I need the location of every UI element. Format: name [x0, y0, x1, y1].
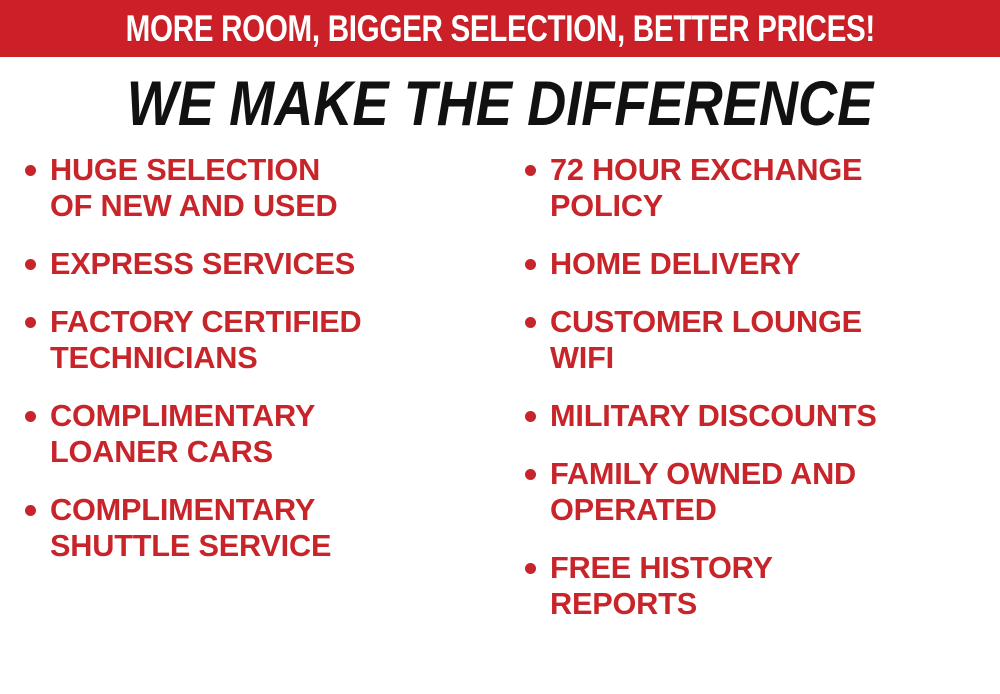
bullet-dot-icon [525, 411, 536, 422]
list-item: COMPLIMENTARY LOANER CARS [18, 398, 500, 470]
top-banner-text: MORE ROOM, BIGGER SELECTION, BETTER PRIC… [125, 10, 874, 47]
promo-poster: MORE ROOM, BIGGER SELECTION, BETTER PRIC… [0, 0, 1000, 694]
bullet-dot-icon [525, 317, 536, 328]
list-item-label: FACTORY CERTIFIED TECHNICIANS [50, 304, 496, 376]
bullet-dot-icon [525, 469, 536, 480]
list-item: HOME DELIVERY [518, 246, 1000, 282]
list-item-label: 72 HOUR EXCHANGE POLICY [550, 152, 996, 224]
bullet-dot-icon [25, 505, 36, 516]
list-item: EXPRESS SERVICES [18, 246, 500, 282]
list-item-label: HOME DELIVERY [550, 246, 996, 282]
list-item-label: FAMILY OWNED AND OPERATED [550, 456, 996, 528]
list-item-label: FREE HISTORY REPORTS [550, 550, 996, 622]
list-item: 72 HOUR EXCHANGE POLICY [518, 152, 1000, 224]
benefits-column-right: 72 HOUR EXCHANGE POLICY HOME DELIVERY CU… [518, 152, 1000, 694]
benefits-column-left: HUGE SELECTION OF NEW AND USED EXPRESS S… [18, 152, 500, 694]
list-item: HUGE SELECTION OF NEW AND USED [18, 152, 500, 224]
list-item-label: CUSTOMER LOUNGE WIFI [550, 304, 996, 376]
list-item-label: COMPLIMENTARY LOANER CARS [50, 398, 496, 470]
list-item: FREE HISTORY REPORTS [518, 550, 1000, 622]
benefits-columns: HUGE SELECTION OF NEW AND USED EXPRESS S… [0, 152, 1000, 694]
bullet-dot-icon [25, 411, 36, 422]
bullet-dot-icon [525, 259, 536, 270]
top-banner: MORE ROOM, BIGGER SELECTION, BETTER PRIC… [0, 0, 1000, 57]
list-item: CUSTOMER LOUNGE WIFI [518, 304, 1000, 376]
list-item-label: EXPRESS SERVICES [50, 246, 496, 282]
list-item-label: MILITARY DISCOUNTS [550, 398, 996, 434]
list-item-label: HUGE SELECTION OF NEW AND USED [50, 152, 496, 224]
bullet-dot-icon [525, 165, 536, 176]
page-title: WE MAKE THE DIFFERENCE [127, 73, 873, 136]
bullet-dot-icon [25, 317, 36, 328]
list-item-label: COMPLIMENTARY SHUTTLE SERVICE [50, 492, 496, 564]
bullet-dot-icon [25, 165, 36, 176]
bullet-dot-icon [25, 259, 36, 270]
list-item: FAMILY OWNED AND OPERATED [518, 456, 1000, 528]
bullet-dot-icon [525, 563, 536, 574]
list-item: COMPLIMENTARY SHUTTLE SERVICE [18, 492, 500, 564]
headline-container: WE MAKE THE DIFFERENCE [0, 68, 1000, 140]
list-item: MILITARY DISCOUNTS [518, 398, 1000, 434]
list-item: FACTORY CERTIFIED TECHNICIANS [18, 304, 500, 376]
